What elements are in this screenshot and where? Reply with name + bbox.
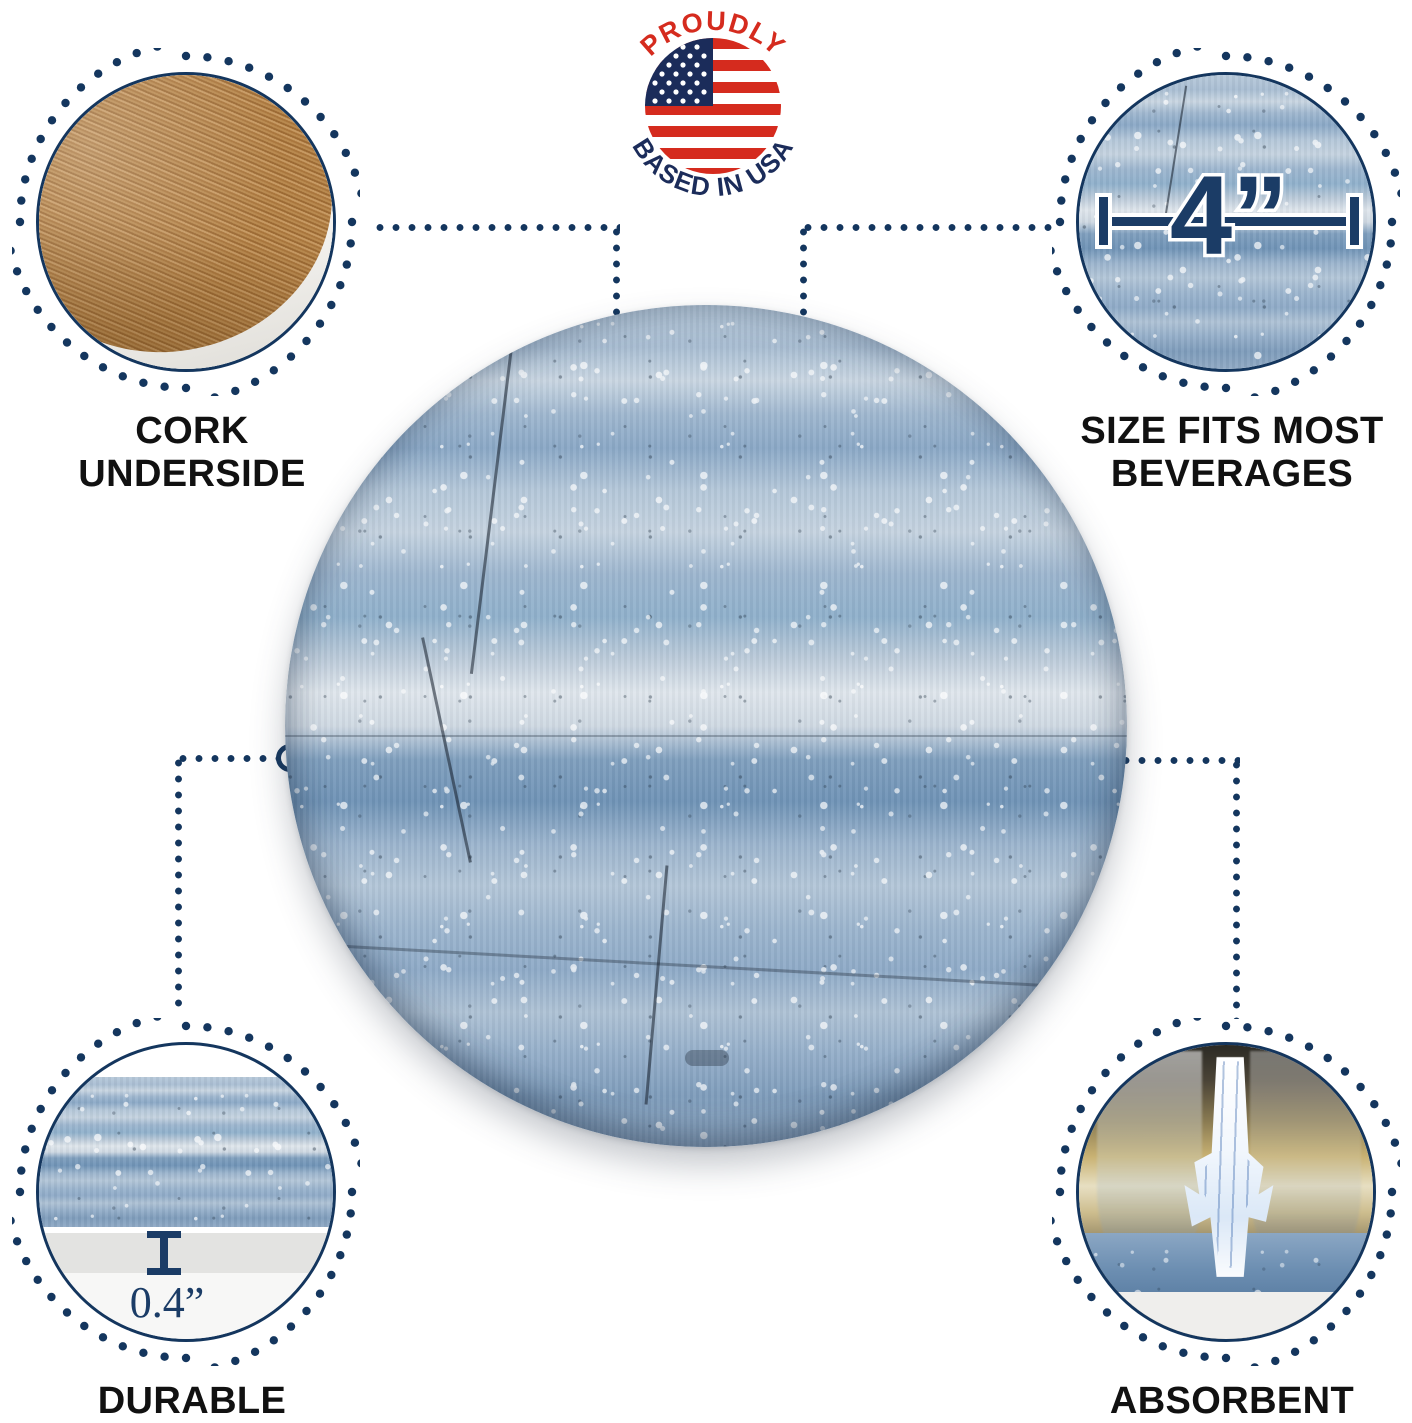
connector-bottom-right-vertical	[1233, 757, 1240, 1019]
feature-durable: 0.4” DURABLE	[12, 1018, 372, 1366]
infographic-canvas: PROUDLY BASED IN USA	[0, 0, 1412, 1422]
coaster-base-strip	[1079, 1292, 1373, 1339]
feature-label-durable: DURABLE	[12, 1380, 372, 1423]
feature-size-fits-most-beverages: 4” SIZE FITS MOST BEVERAGES	[1052, 48, 1412, 396]
size-closeup-photo: 4”	[1076, 72, 1376, 372]
coaster-edge-speckles	[39, 1077, 333, 1227]
connector-top-left-horizontal	[372, 224, 620, 231]
absorbent-splash-photo	[1076, 1042, 1376, 1342]
proudly-based-in-usa-badge: PROUDLY BASED IN USA	[607, 2, 819, 214]
dimension-value-4-inch: 4”	[1079, 160, 1376, 272]
connector-top-right-horizontal	[800, 224, 1056, 231]
feature-label-size-fits-most-beverages: SIZE FITS MOST BEVERAGES	[1052, 410, 1412, 497]
coaster-edge-band	[39, 1233, 333, 1273]
feature-label-absorbent: ABSORBENT	[1052, 1380, 1412, 1423]
thickness-value-0-4-inch: 0.4”	[39, 1277, 295, 1328]
thickness-closeup-photo: 0.4”	[36, 1042, 336, 1342]
connector-bottom-right-horizontal	[1118, 757, 1240, 764]
connector-bottom-left-horizontal	[175, 755, 279, 762]
connector-top-right-vertical	[800, 224, 807, 316]
feature-cork-underside: CORK UNDERSIDE	[12, 48, 372, 396]
coaster-rim-shading	[285, 305, 1127, 1147]
main-product-image	[285, 305, 1127, 1147]
feature-label-cork-underside: CORK UNDERSIDE	[12, 410, 372, 497]
connector-bottom-left-vertical	[175, 755, 182, 1013]
cork-underside-photo	[36, 72, 336, 372]
usa-badge-svg: PROUDLY BASED IN USA	[607, 2, 819, 214]
feature-absorbent: ABSORBENT	[1052, 1018, 1412, 1366]
thickness-cap-bottom	[147, 1268, 181, 1275]
